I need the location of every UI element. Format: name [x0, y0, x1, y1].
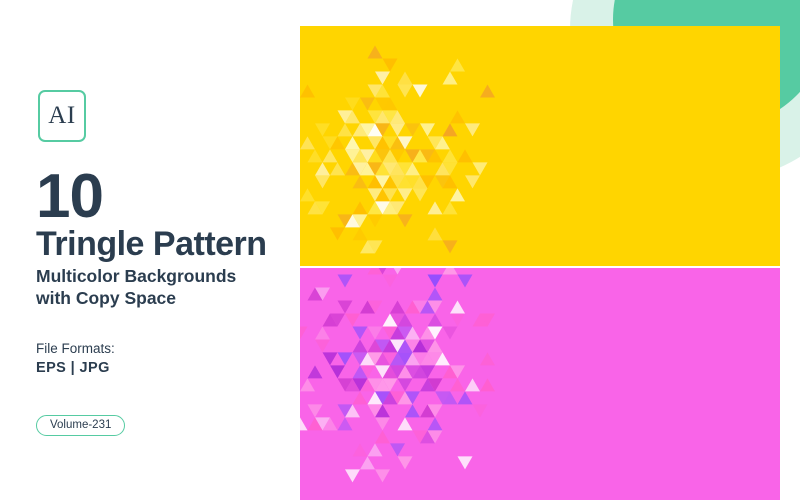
volume-badge: Volume-231 [36, 415, 125, 436]
page-subtitle: Multicolor Backgrounds with Copy Space [36, 265, 286, 310]
page-subtitle-line-1: Multicolor Backgrounds [36, 265, 286, 287]
file-formats-label: File Formats: [36, 341, 115, 356]
triangle-pattern-pink-panel [300, 268, 780, 500]
ai-format-badge: AI [38, 90, 86, 142]
volume-badge-label: Volume-231 [50, 419, 111, 431]
info-column: AI 10 Tringle Pattern Multicolor Backgro… [0, 0, 300, 500]
page-subtitle-line-2: with Copy Space [36, 287, 286, 309]
page-title: Tringle Pattern [36, 227, 267, 261]
item-count: 10 [36, 166, 103, 228]
ai-format-badge-label: AI [48, 102, 75, 130]
file-formats-value: EPS | JPG [36, 360, 110, 376]
poster-canvas: AI 10 Tringle Pattern Multicolor Backgro… [0, 0, 800, 500]
triangle-pattern-yellow-panel [300, 26, 780, 266]
